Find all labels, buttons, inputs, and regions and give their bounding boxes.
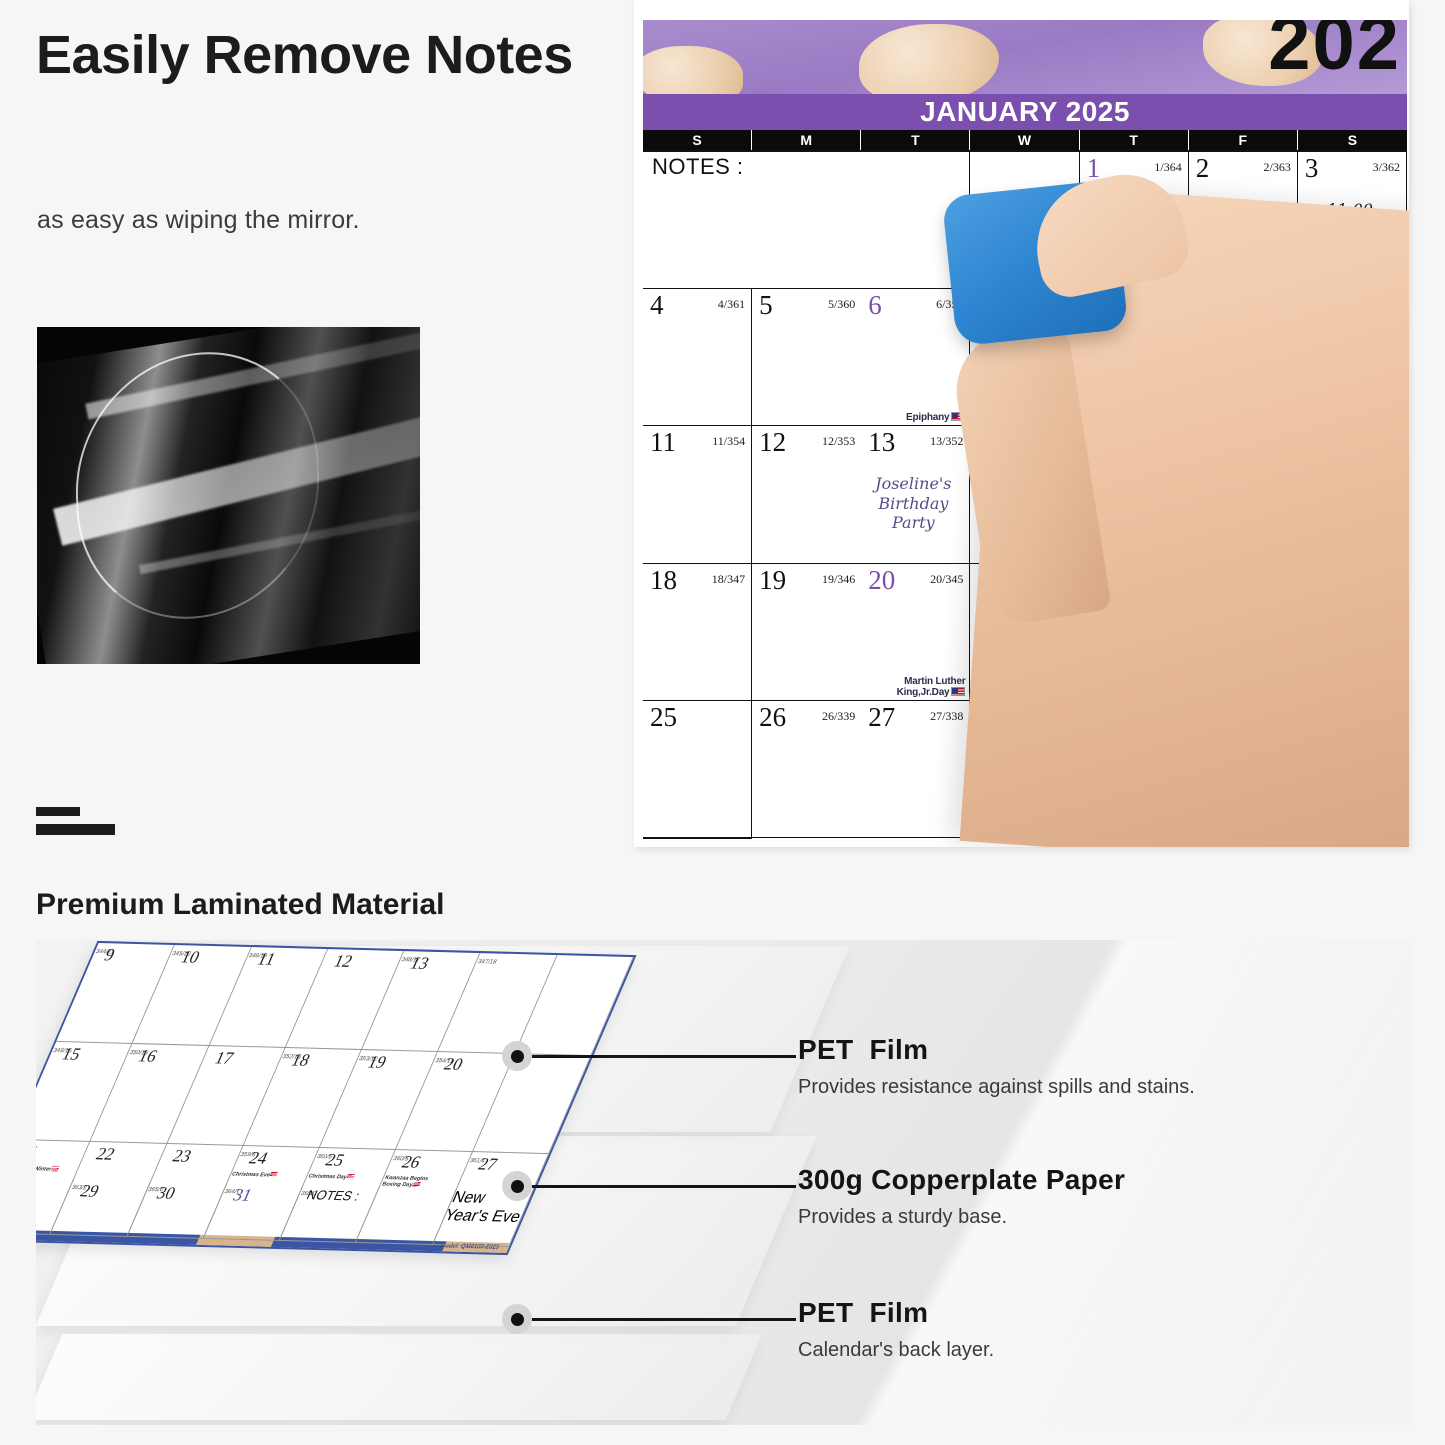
day-number: 6 [868, 291, 882, 319]
day-number: 11 [650, 428, 676, 456]
double-bar-divider-icon [36, 807, 115, 835]
divider-bar-long [36, 824, 115, 835]
mini-holiday-label: Kwanzaa BeginsBoxing Day [381, 1175, 460, 1190]
calendar-day-cell[interactable]: 25 [643, 701, 752, 838]
weekday-thu: T [1080, 130, 1189, 150]
day-of-year: 20/345 [930, 572, 963, 587]
day-of-year: 2/363 [1264, 160, 1291, 175]
callout-3: PET Film Calendar's back layer. [798, 1297, 994, 1362]
callout-dot-3[interactable] [502, 1304, 532, 1334]
calendar-day-cell[interactable] [643, 838, 752, 839]
mini-notes-label: NOTES : [304, 1187, 362, 1203]
day-of-year: 3/362 [1373, 160, 1400, 175]
callout-title-1: PET Film [798, 1034, 928, 1066]
infographic-page: Easily Remove Notes as easy as wiping th… [0, 0, 1445, 1445]
day-of-year: 27/338 [930, 709, 963, 724]
callout-dot-core-1 [511, 1050, 524, 1063]
cover-blob-1 [643, 46, 743, 94]
day-of-year: 12/353 [822, 434, 855, 449]
mini-day-of-year: 347/18 [477, 959, 498, 965]
day-of-year: 5/360 [828, 297, 855, 312]
calendar-day-cell[interactable]: 1919/346 [752, 564, 861, 701]
handwritten-note: Joseline'sBirthdayParty [861, 474, 965, 533]
callout-dot-core-3 [511, 1313, 524, 1326]
mini-calendar-row: 344/219345/2010346/191112348/1713347/18 [56, 943, 634, 1056]
calendar-weekday-header: S M T W T F S [643, 130, 1407, 150]
cover-blob-2 [859, 24, 999, 94]
day-of-year: 19/346 [822, 572, 855, 587]
day-of-year: 13/352 [930, 434, 963, 449]
callout-desc-2: Provides a sturdy base. [798, 1206, 1007, 1229]
callout-dot-core-2 [511, 1180, 524, 1193]
pet-film-roll-photo [37, 327, 420, 664]
flag-us-icon [269, 1172, 278, 1177]
flag-us-icon [51, 1166, 60, 1171]
notes-label: NOTES : [652, 154, 744, 180]
mini-day-number: 21 [36, 1143, 42, 1163]
callout-1: PET Film Provides resistance against spi… [798, 1034, 1195, 1099]
calendar-day-cell[interactable]: 1313/352Joseline'sBirthdayParty [861, 426, 970, 563]
calendar-month-title: JANUARY 2025 [643, 94, 1407, 130]
mini-day-number: 17 [211, 1048, 236, 1068]
day-of-year: 26/339 [822, 709, 855, 724]
calendar-day-cell[interactable]: 1212/353 [752, 426, 861, 563]
callout-dot-1[interactable] [502, 1041, 532, 1071]
day-number: 13 [868, 428, 895, 456]
weekday-mon: M [752, 130, 861, 150]
day-number: 2 [1196, 154, 1210, 182]
callout-title-3: PET Film [798, 1297, 928, 1329]
cover-year-text: 202 [1268, 20, 1401, 87]
page-subheadline: as easy as wiping the mirror. [37, 206, 597, 235]
calendar-notes-cell[interactable]: NOTES : [643, 152, 970, 289]
callout-2: 300g Copperplate Paper Provides a sturdy… [798, 1164, 1125, 1229]
day-of-year: 11/354 [712, 434, 745, 449]
calendar-day-cell[interactable]: 2727/338 [861, 701, 970, 838]
calendar-day-cell[interactable]: 1111/354 [643, 426, 752, 563]
flag-us-icon [412, 1182, 421, 1187]
day-number: 26 [759, 703, 786, 731]
laminate-layers-panel: 344/219345/2010346/191112348/1713347/183… [36, 940, 1411, 1425]
day-number: 18 [650, 566, 677, 594]
day-number: 27 [868, 703, 895, 731]
day-number: 3 [1305, 154, 1319, 182]
mini-day-number: 22 [93, 1145, 118, 1165]
calendar-hero-photo: 202 JANUARY 2025 S M T W T F S NOTES :Pr… [634, 0, 1409, 847]
section-title: Premium Laminated Material [36, 888, 444, 922]
callout-title-2: 300g Copperplate Paper [798, 1164, 1125, 1196]
holiday-label: Martin LutherKing,Jr.Day [861, 676, 965, 698]
mini-day-number: 12 [330, 951, 355, 971]
day-number: 25 [650, 703, 677, 731]
weekday-fri: F [1189, 130, 1298, 150]
holiday-label: Epiphany [861, 412, 965, 423]
flag-us-icon [346, 1174, 355, 1179]
calendar-day-cell[interactable]: 2020/345Martin LutherKing,Jr.Day [861, 564, 970, 701]
callout-line-2 [532, 1185, 796, 1188]
callout-desc-3: Calendar's back layer. [798, 1339, 994, 1362]
mini-holiday-label: First Day of Winter [36, 1165, 78, 1173]
callout-line-1 [532, 1055, 796, 1058]
weekday-sat: S [1298, 130, 1407, 150]
calendar-day-cell[interactable]: 2626/339 [752, 701, 861, 838]
day-number: 12 [759, 428, 786, 456]
weekday-wed: W [970, 130, 1079, 150]
mini-day-number: 23 [169, 1147, 194, 1167]
callout-line-3 [532, 1318, 796, 1321]
day-number: 19 [759, 566, 786, 594]
calendar-day-cell[interactable]: 55/360 [752, 289, 861, 426]
calendar-cover-art: 202 [643, 20, 1407, 94]
weekday-sun: S [643, 130, 752, 150]
day-of-year: 1/364 [1154, 160, 1181, 175]
weekday-tue: T [861, 130, 970, 150]
day-of-year: 4/361 [718, 297, 745, 312]
day-number: 20 [868, 566, 895, 594]
day-number: 4 [650, 291, 664, 319]
callout-dot-2[interactable] [502, 1171, 532, 1201]
flag-us-icon [951, 687, 965, 696]
day-number: 5 [759, 291, 773, 319]
calendar-day-cell[interactable]: 1818/347 [643, 564, 752, 701]
calendar-day-cell[interactable]: 44/361 [643, 289, 752, 426]
page-headline: Easily Remove Notes [36, 26, 596, 84]
layer-sheet-bottom [36, 1334, 762, 1420]
callout-desc-1: Provides resistance against spills and s… [798, 1076, 1195, 1099]
day-of-year: 18/347 [712, 572, 745, 587]
divider-bar-short [36, 807, 80, 816]
